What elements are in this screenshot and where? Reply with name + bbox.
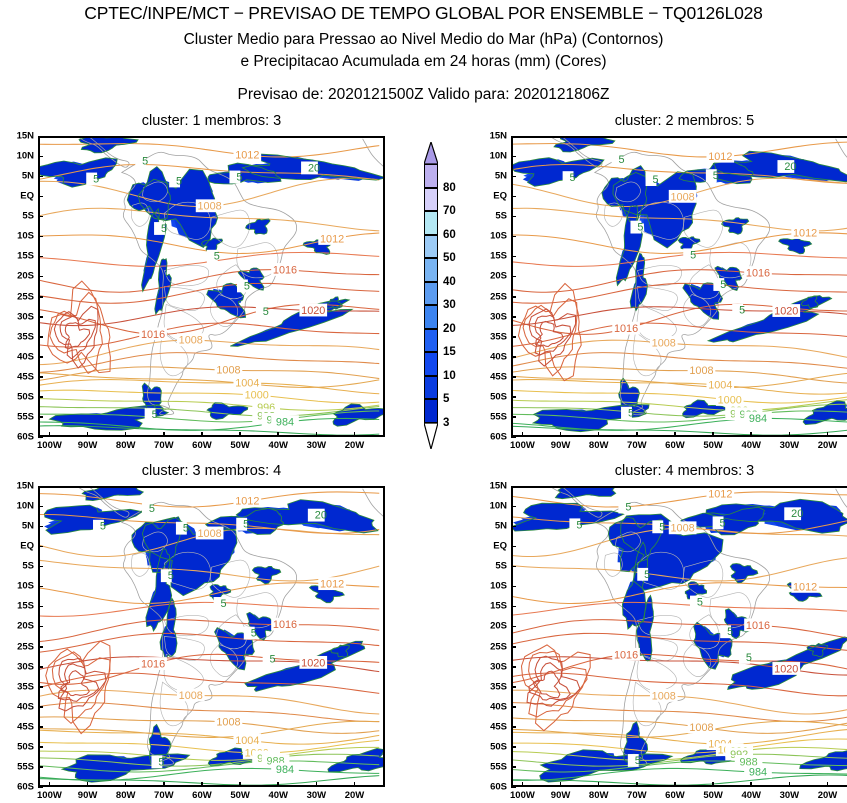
precip-contour-label: 5 bbox=[635, 755, 641, 767]
x-axis-tick-mark bbox=[789, 782, 791, 787]
y-axis-tick-mark bbox=[511, 437, 516, 439]
y-axis-tick-mark bbox=[38, 156, 43, 158]
contour-label: 1008 bbox=[216, 365, 240, 377]
x-axis-tick-mark bbox=[49, 782, 51, 787]
panel-title-cluster-4: cluster: 4 membros: 3 bbox=[511, 463, 847, 479]
map-panel-cluster-2[interactable]: 1012101210081016101610201008100810041000… bbox=[511, 136, 847, 437]
y-axis-tick-mark bbox=[38, 256, 43, 258]
x-axis-tick-label: 30W bbox=[307, 790, 327, 801]
contour-label: 1016 bbox=[614, 649, 638, 661]
colorbar: 35101520304050607080 bbox=[424, 142, 438, 461]
colorbar-band bbox=[424, 282, 438, 306]
precip-contour-label: 5 bbox=[93, 173, 99, 185]
contour-label: 1004 bbox=[708, 380, 732, 392]
y-axis-tick-label: 50S bbox=[475, 391, 507, 402]
y-axis-tick-label: 40S bbox=[2, 351, 34, 362]
contour-label: 1004 bbox=[235, 735, 259, 747]
precip-contour-label: 5 bbox=[720, 517, 726, 529]
contour-label: 984 bbox=[276, 417, 294, 429]
colorbar-band bbox=[424, 399, 438, 423]
y-axis-tick-label: 60S bbox=[475, 782, 507, 793]
x-axis-tick-mark bbox=[560, 432, 562, 437]
y-axis-tick-label: 45S bbox=[2, 371, 34, 382]
page-title: CPTEC/INPE/MCT − PREVISAO DE TEMPO GLOBA… bbox=[0, 3, 847, 24]
contour-label: 1016 bbox=[141, 659, 165, 671]
y-axis-tick-mark bbox=[38, 646, 43, 648]
y-axis-tick-mark bbox=[38, 746, 43, 748]
contour-label: 1012 bbox=[793, 227, 817, 239]
precip-contour-label: 5 bbox=[625, 501, 631, 513]
y-axis-tick-label: 30S bbox=[475, 661, 507, 672]
y-axis-tick-label: 50S bbox=[2, 391, 34, 402]
y-axis-tick-mark bbox=[38, 216, 43, 218]
y-axis-tick-label: 35S bbox=[475, 681, 507, 692]
y-axis-tick-label: 15N bbox=[2, 131, 34, 142]
y-axis-tick-label: 15N bbox=[2, 481, 34, 492]
forecast-run-line: Previsao de: 2020121500Z Valido para: 20… bbox=[0, 86, 847, 104]
y-axis-tick-mark bbox=[511, 666, 516, 668]
x-axis-tick-label: 30W bbox=[780, 440, 800, 451]
y-axis-tick-mark bbox=[511, 396, 516, 398]
y-axis-tick-label: 10S bbox=[2, 231, 34, 242]
colorbar-tick-label: 30 bbox=[443, 299, 456, 311]
y-axis-tick-label: 45S bbox=[2, 721, 34, 732]
y-axis-tick-label: 5N bbox=[2, 521, 34, 532]
colorbar-band bbox=[424, 305, 438, 329]
x-axis-tick-label: 90W bbox=[78, 440, 98, 451]
y-axis-tick-label: 25S bbox=[2, 291, 34, 302]
colorbar-tick-label: 5 bbox=[443, 393, 449, 405]
x-axis-tick-mark bbox=[239, 782, 241, 787]
y-axis-tick-label: 15S bbox=[2, 251, 34, 262]
y-axis-tick-label: EQ bbox=[2, 191, 34, 202]
contour-label: 1008 bbox=[179, 335, 203, 347]
colorbar-tick-label: 60 bbox=[443, 229, 456, 241]
contour-label: 1000 bbox=[245, 390, 269, 402]
precip-contour-label: 5 bbox=[149, 503, 155, 515]
y-axis-tick-mark bbox=[511, 706, 516, 708]
x-axis-tick-label: 100W bbox=[37, 440, 62, 451]
panel-title-cluster-3: cluster: 3 membros: 4 bbox=[38, 463, 385, 479]
y-axis-tick-label: 30S bbox=[475, 311, 507, 322]
precip-contour-label: 5 bbox=[637, 222, 643, 234]
y-axis-tick-mark bbox=[38, 566, 43, 568]
precip-contour-label: 5 bbox=[221, 598, 227, 610]
contour-label: 1016 bbox=[614, 323, 638, 335]
y-axis-tick-mark bbox=[511, 546, 516, 548]
contour-label: 1012 bbox=[793, 581, 817, 593]
x-axis-tick-label: 60W bbox=[192, 790, 212, 801]
y-axis-tick-mark bbox=[38, 316, 43, 318]
contour-label: 1016 bbox=[273, 264, 297, 276]
y-axis-tick-label: 5S bbox=[475, 561, 507, 572]
plot-area: 1012101210081016101610201008100810041000… bbox=[40, 488, 383, 785]
y-axis-tick-mark bbox=[38, 236, 43, 238]
precip-contour-label: 5 bbox=[176, 175, 182, 187]
y-axis-tick-mark bbox=[38, 666, 43, 668]
y-axis-tick-mark bbox=[38, 276, 43, 278]
x-axis-tick-mark bbox=[201, 782, 203, 787]
x-axis-tick-mark bbox=[522, 782, 524, 787]
y-axis-tick-label: EQ bbox=[475, 191, 507, 202]
y-axis-tick-label: 20S bbox=[475, 621, 507, 632]
contour-label: 1012 bbox=[708, 151, 732, 163]
contour-label: 1008 bbox=[689, 365, 713, 377]
precip-contour-label: 5 bbox=[263, 306, 269, 318]
x-axis-tick-label: 70W bbox=[154, 790, 174, 801]
x-axis-tick-label: 20W bbox=[818, 440, 838, 451]
y-axis-tick-mark bbox=[511, 356, 516, 358]
y-axis-tick-mark bbox=[38, 606, 43, 608]
y-axis-tick-mark bbox=[511, 216, 516, 218]
y-axis-tick-mark bbox=[511, 566, 516, 568]
precip-contour-label: 5 bbox=[659, 521, 665, 533]
x-axis-tick-label: 80W bbox=[589, 440, 609, 451]
colorbar-band bbox=[424, 211, 438, 235]
y-axis-tick-mark bbox=[38, 787, 43, 789]
x-axis-tick-mark bbox=[125, 432, 127, 437]
y-axis-tick-mark bbox=[511, 746, 516, 748]
x-axis-tick-mark bbox=[598, 782, 600, 787]
y-axis-tick-mark bbox=[511, 276, 516, 278]
contour-label: 1020 bbox=[301, 657, 325, 669]
y-axis-tick-mark bbox=[511, 156, 516, 158]
x-axis-tick-label: 50W bbox=[703, 440, 723, 451]
x-axis-tick-label: 30W bbox=[307, 440, 327, 451]
x-axis-tick-label: 70W bbox=[627, 440, 647, 451]
x-axis-tick-mark bbox=[750, 432, 752, 437]
contour-label: 1008 bbox=[198, 201, 222, 213]
y-axis-tick-label: 60S bbox=[2, 432, 34, 443]
y-axis-tick-label: 50S bbox=[475, 741, 507, 752]
colorbar-tick-label: 50 bbox=[443, 252, 456, 264]
y-axis-tick-mark bbox=[38, 396, 43, 398]
y-axis-tick-label: 15S bbox=[2, 601, 34, 612]
contour-label: 1008 bbox=[689, 722, 713, 734]
x-axis-tick-label: 70W bbox=[627, 790, 647, 801]
x-axis-tick-label: 100W bbox=[510, 790, 535, 801]
contour-label: 1016 bbox=[746, 268, 770, 280]
y-axis-tick-mark bbox=[511, 606, 516, 608]
y-axis-tick-label: 60S bbox=[2, 782, 34, 793]
y-axis-tick-mark bbox=[38, 526, 43, 528]
contour-label: 1012 bbox=[320, 579, 344, 591]
precip-contour-label: 5 bbox=[628, 408, 634, 420]
contour-label: 1016 bbox=[273, 619, 297, 631]
map-panel-cluster-4[interactable]: 1012101210081016101610201008100810041000… bbox=[511, 486, 847, 787]
y-axis-tick-mark bbox=[511, 196, 516, 198]
x-axis-tick-mark bbox=[49, 432, 51, 437]
colorbar-band bbox=[424, 376, 438, 400]
colorbar-tick-label: 40 bbox=[443, 276, 456, 288]
x-axis-tick-label: 80W bbox=[116, 440, 136, 451]
y-axis-tick-label: 10N bbox=[475, 151, 507, 162]
x-axis-tick-label: 20W bbox=[345, 440, 365, 451]
y-axis-tick-label: 5N bbox=[475, 171, 507, 182]
precip-contour-label: 5 bbox=[270, 653, 276, 665]
contour-label: 1020 bbox=[774, 305, 798, 317]
y-axis-tick-label: 5N bbox=[475, 521, 507, 532]
y-axis-tick-label: 10N bbox=[2, 501, 34, 512]
y-axis-tick-mark bbox=[511, 686, 516, 688]
contour-label: 1012 bbox=[320, 233, 344, 245]
contour-label: 1016 bbox=[746, 620, 770, 632]
y-axis-tick-label: 10S bbox=[2, 581, 34, 592]
x-axis-tick-label: 50W bbox=[230, 790, 250, 801]
colorbar-band bbox=[424, 188, 438, 212]
x-axis-tick-label: 90W bbox=[551, 790, 571, 801]
x-axis-tick-label: 100W bbox=[37, 790, 62, 801]
precip-contour-label: 20 bbox=[784, 161, 796, 173]
colorbar-band bbox=[424, 258, 438, 282]
y-axis-tick-mark bbox=[511, 236, 516, 238]
colorbar-tick-label: 80 bbox=[443, 182, 456, 194]
x-axis-tick-mark bbox=[674, 432, 676, 437]
y-axis-tick-label: 15N bbox=[475, 481, 507, 492]
contour-label: 1008 bbox=[216, 717, 240, 729]
x-axis-tick-mark bbox=[125, 782, 127, 787]
colorbar-band bbox=[424, 352, 438, 376]
x-axis-tick-mark bbox=[712, 432, 714, 437]
colorbar-band bbox=[424, 164, 438, 188]
y-axis-tick-mark bbox=[38, 486, 43, 488]
y-axis-tick-mark bbox=[38, 136, 43, 138]
y-axis-tick-label: 10N bbox=[475, 501, 507, 512]
y-axis-tick-mark bbox=[511, 316, 516, 318]
y-axis-tick-mark bbox=[38, 336, 43, 338]
precip-contour-label: 5 bbox=[652, 174, 658, 186]
x-axis-tick-mark bbox=[163, 432, 165, 437]
panel-title-cluster-1: cluster: 1 membros: 3 bbox=[38, 113, 385, 129]
y-axis-tick-mark bbox=[38, 686, 43, 688]
x-axis-tick-label: 60W bbox=[192, 440, 212, 451]
y-axis-tick-mark bbox=[511, 486, 516, 488]
y-axis-tick-mark bbox=[511, 416, 516, 418]
colorbar-tick-label: 10 bbox=[443, 370, 456, 382]
y-axis-tick-label: 40S bbox=[475, 351, 507, 362]
precip-contour-label: 5 bbox=[720, 279, 726, 291]
y-axis-tick-label: 20S bbox=[2, 271, 34, 282]
y-axis-tick-label: 15N bbox=[475, 131, 507, 142]
x-axis-tick-mark bbox=[598, 432, 600, 437]
precip-contour-label: 5 bbox=[183, 523, 189, 535]
y-axis-tick-label: 45S bbox=[475, 721, 507, 732]
precip-contour-label: 20 bbox=[308, 162, 320, 174]
x-axis-tick-mark bbox=[750, 782, 752, 787]
subtitle-line-1: Cluster Medio para Pressao ao Nivel Medi… bbox=[0, 31, 847, 49]
y-axis-tick-label: 45S bbox=[475, 371, 507, 382]
y-axis-tick-label: 5S bbox=[2, 561, 34, 572]
y-axis-tick-label: 50S bbox=[2, 741, 34, 752]
x-axis-tick-label: 40W bbox=[268, 790, 288, 801]
y-axis-tick-label: 10S bbox=[475, 581, 507, 592]
y-axis-tick-label: 25S bbox=[475, 641, 507, 652]
x-axis-tick-label: 50W bbox=[703, 790, 723, 801]
y-axis-tick-mark bbox=[511, 296, 516, 298]
x-axis-tick-mark bbox=[522, 432, 524, 437]
x-axis-tick-label: 80W bbox=[589, 790, 609, 801]
y-axis-tick-label: 35S bbox=[2, 681, 34, 692]
precip-contour-label: 5 bbox=[690, 249, 696, 261]
x-axis-tick-mark bbox=[560, 782, 562, 787]
x-axis-tick-mark bbox=[316, 432, 318, 437]
y-axis-tick-mark bbox=[38, 506, 43, 508]
y-axis-tick-label: 20S bbox=[475, 271, 507, 282]
x-axis-tick-label: 90W bbox=[551, 440, 571, 451]
y-axis-tick-mark bbox=[511, 586, 516, 588]
y-axis-tick-label: 30S bbox=[2, 311, 34, 322]
precip-contour-label: 5 bbox=[244, 280, 250, 292]
contour-label: 1008 bbox=[652, 337, 676, 349]
y-axis-tick-mark bbox=[38, 546, 43, 548]
y-axis-tick-label: 25S bbox=[2, 641, 34, 652]
y-axis-tick-mark bbox=[38, 416, 43, 418]
y-axis-tick-label: EQ bbox=[2, 541, 34, 552]
y-axis-tick-label: 55S bbox=[475, 411, 507, 422]
x-axis-tick-mark bbox=[87, 432, 89, 437]
x-axis-tick-mark bbox=[827, 432, 829, 437]
x-axis-tick-label: 20W bbox=[345, 790, 365, 801]
y-axis-tick-mark bbox=[38, 376, 43, 378]
y-axis-tick-label: 20S bbox=[2, 621, 34, 632]
colorbar-tick-label: 20 bbox=[443, 323, 456, 335]
precip-contour-label: 20 bbox=[315, 510, 327, 522]
map-panel-cluster-3[interactable]: 1012101210081016101610201008100810041000… bbox=[38, 486, 385, 787]
y-axis-tick-mark bbox=[511, 256, 516, 258]
precip-contour-label: 5 bbox=[576, 519, 582, 531]
y-axis-tick-label: 5S bbox=[475, 211, 507, 222]
x-axis-tick-mark bbox=[827, 782, 829, 787]
precip-contour-label: 5 bbox=[100, 521, 106, 533]
x-axis-tick-mark bbox=[163, 782, 165, 787]
x-axis-tick-label: 100W bbox=[510, 440, 535, 451]
y-axis-tick-label: 60S bbox=[475, 432, 507, 443]
x-axis-tick-mark bbox=[636, 432, 638, 437]
precip-contour-label: 5 bbox=[243, 519, 249, 531]
precip-contour-label: 5 bbox=[619, 154, 625, 166]
y-axis-tick-mark bbox=[511, 336, 516, 338]
y-axis-tick-label: 15S bbox=[475, 601, 507, 612]
y-axis-tick-label: 35S bbox=[2, 331, 34, 342]
x-axis-tick-label: 40W bbox=[741, 440, 761, 451]
x-axis-tick-label: 50W bbox=[230, 440, 250, 451]
y-axis-tick-mark bbox=[511, 376, 516, 378]
colorbar-tick-label: 70 bbox=[443, 205, 456, 217]
precip-contour-label: 5 bbox=[251, 628, 257, 640]
y-axis-tick-mark bbox=[511, 136, 516, 138]
colorbar-extend-low-arrow bbox=[424, 423, 438, 449]
subtitle-line-2: e Precipitacao Acumulada em 24 horas (mm… bbox=[0, 53, 847, 71]
x-axis-tick-mark bbox=[316, 782, 318, 787]
x-axis-tick-mark bbox=[712, 782, 714, 787]
y-axis-tick-mark bbox=[511, 646, 516, 648]
map-panel-cluster-1[interactable]: 1012101210081016101610201008100810041000… bbox=[38, 136, 385, 437]
y-axis-tick-mark bbox=[38, 437, 43, 439]
contour-label: 1020 bbox=[301, 305, 325, 317]
x-axis-tick-label: 20W bbox=[818, 790, 838, 801]
precip-contour-label: 5 bbox=[570, 172, 576, 184]
y-axis-tick-mark bbox=[38, 766, 43, 768]
x-axis-tick-mark bbox=[674, 782, 676, 787]
precip-contour-label: 5 bbox=[697, 597, 703, 609]
x-axis-tick-mark bbox=[354, 432, 356, 437]
y-axis-tick-label: 40S bbox=[2, 701, 34, 712]
y-axis-tick-label: EQ bbox=[475, 541, 507, 552]
x-axis-tick-mark bbox=[277, 432, 279, 437]
precip-contour-label: 5 bbox=[739, 305, 745, 317]
y-axis-tick-mark bbox=[38, 586, 43, 588]
y-axis-tick-label: 5N bbox=[2, 171, 34, 182]
y-axis-tick-mark bbox=[511, 526, 516, 528]
y-axis-tick-mark bbox=[38, 356, 43, 358]
y-axis-tick-mark bbox=[38, 196, 43, 198]
x-axis-tick-label: 80W bbox=[116, 790, 136, 801]
contour-label: 1012 bbox=[708, 489, 732, 501]
x-axis-tick-mark bbox=[201, 432, 203, 437]
x-axis-tick-mark bbox=[636, 782, 638, 787]
colorbar-band bbox=[424, 329, 438, 353]
x-axis-tick-label: 60W bbox=[665, 790, 685, 801]
panel-title-cluster-2: cluster: 2 membros: 5 bbox=[511, 113, 847, 129]
contour-label: 984 bbox=[749, 767, 767, 779]
colorbar-tick-label: 15 bbox=[443, 346, 456, 358]
contour-label: 1008 bbox=[198, 528, 222, 540]
contour-label: 1008 bbox=[671, 523, 695, 535]
y-axis-tick-mark bbox=[38, 706, 43, 708]
y-axis-tick-label: 55S bbox=[2, 761, 34, 772]
precip-contour-label: 5 bbox=[142, 156, 148, 168]
y-axis-tick-label: 55S bbox=[2, 411, 34, 422]
colorbar-tick-label: 3 bbox=[443, 417, 449, 429]
contour-label: 1020 bbox=[774, 663, 798, 675]
x-axis-tick-mark bbox=[354, 782, 356, 787]
x-axis-tick-label: 60W bbox=[665, 440, 685, 451]
y-axis-tick-mark bbox=[38, 626, 43, 628]
x-axis-tick-label: 40W bbox=[268, 440, 288, 451]
contour-label: 1004 bbox=[235, 377, 259, 389]
y-axis-tick-mark bbox=[511, 766, 516, 768]
precip-contour-label: 5 bbox=[236, 171, 242, 183]
contour-label: 1012 bbox=[235, 150, 259, 162]
plot-area: 1012101210081016101610201008100810041000… bbox=[513, 488, 847, 785]
contour-label: 1008 bbox=[671, 191, 695, 203]
contour-label: 1016 bbox=[141, 329, 165, 341]
x-axis-tick-label: 70W bbox=[154, 440, 174, 451]
y-axis-tick-label: 15S bbox=[475, 251, 507, 262]
x-axis-tick-mark bbox=[239, 432, 241, 437]
precip-contour-label: 5 bbox=[161, 223, 167, 235]
colorbar-extend-high-outline bbox=[424, 142, 438, 164]
y-axis-tick-label: 5S bbox=[2, 211, 34, 222]
precip-contour-label: 5 bbox=[746, 652, 752, 664]
y-axis-tick-label: 10S bbox=[475, 231, 507, 242]
x-axis-tick-mark bbox=[87, 782, 89, 787]
x-axis-tick-mark bbox=[277, 782, 279, 787]
x-axis-tick-label: 30W bbox=[780, 790, 800, 801]
y-axis-tick-mark bbox=[511, 626, 516, 628]
y-axis-tick-mark bbox=[38, 726, 43, 728]
x-axis-tick-label: 90W bbox=[78, 790, 98, 801]
contour-label: 984 bbox=[276, 764, 294, 776]
y-axis-tick-label: 35S bbox=[475, 331, 507, 342]
y-axis-tick-label: 25S bbox=[475, 291, 507, 302]
y-axis-tick-mark bbox=[511, 787, 516, 789]
contour-label: 1008 bbox=[179, 690, 203, 702]
precip-contour-label: 20 bbox=[791, 508, 803, 520]
y-axis-tick-mark bbox=[511, 176, 516, 178]
precip-contour-label: 5 bbox=[158, 756, 164, 768]
precip-contour-label: 5 bbox=[644, 569, 650, 581]
